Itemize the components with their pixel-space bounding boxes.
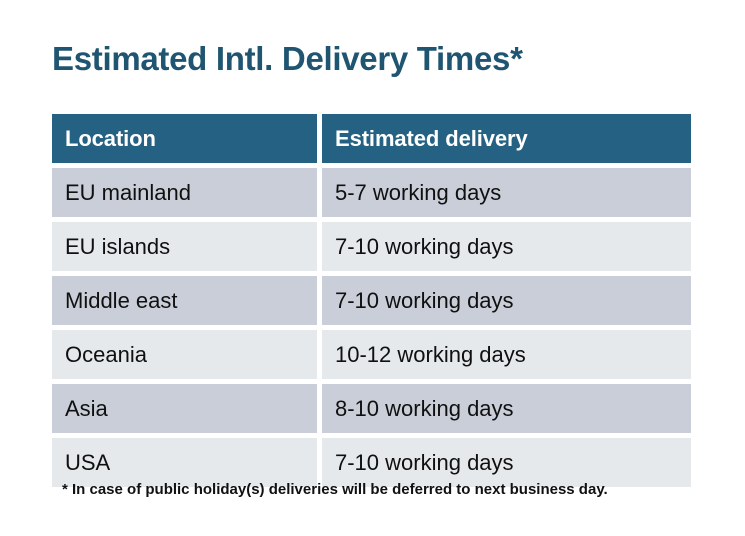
table-row: Oceania 10-12 working days: [52, 330, 691, 379]
delivery-times-page: Estimated Intl. Delivery Times* Location…: [0, 0, 745, 536]
cell-estimated-delivery: 10-12 working days: [322, 330, 691, 379]
cell-location: Middle east: [52, 276, 317, 325]
cell-location: Oceania: [52, 330, 317, 379]
cell-estimated-delivery: 7-10 working days: [322, 276, 691, 325]
table-header-row: Location Estimated delivery: [52, 114, 691, 163]
column-header-estimated-delivery: Estimated delivery: [322, 114, 691, 163]
cell-estimated-delivery: 7-10 working days: [322, 222, 691, 271]
table-row: Asia 8-10 working days: [52, 384, 691, 433]
table-row: EU islands 7-10 working days: [52, 222, 691, 271]
table-row: Middle east 7-10 working days: [52, 276, 691, 325]
cell-location: EU mainland: [52, 168, 317, 217]
delivery-times-table: Location Estimated delivery EU mainland …: [52, 114, 691, 487]
cell-estimated-delivery: 5-7 working days: [322, 168, 691, 217]
page-title: Estimated Intl. Delivery Times*: [52, 38, 523, 80]
table-row: EU mainland 5-7 working days: [52, 168, 691, 217]
cell-location: Asia: [52, 384, 317, 433]
footnote-text: * In case of public holiday(s) deliverie…: [62, 479, 608, 501]
cell-location: EU islands: [52, 222, 317, 271]
column-header-location: Location: [52, 114, 317, 163]
cell-estimated-delivery: 8-10 working days: [322, 384, 691, 433]
